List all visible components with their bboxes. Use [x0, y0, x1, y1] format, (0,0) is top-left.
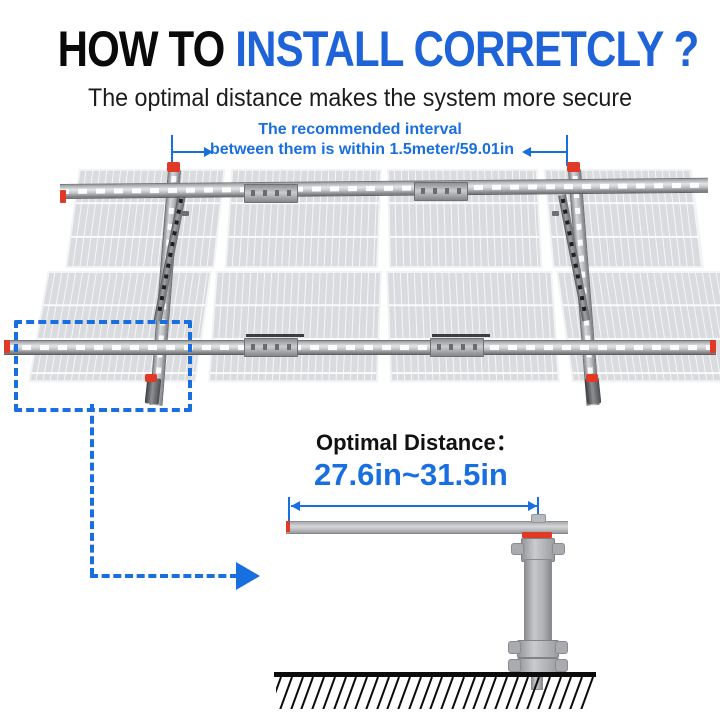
detail-clamp-bolt — [511, 543, 524, 555]
detail-bracket-bolt — [555, 659, 568, 672]
detail-bracket-bolt — [508, 659, 521, 672]
detail-rail-cap-red — [286, 521, 290, 532]
detail-lower-bracket — [517, 640, 559, 658]
arrow-left-icon — [291, 501, 300, 511]
detail-rail-bolt — [531, 514, 546, 523]
detail-bracket-bolt — [508, 641, 521, 654]
detail-side-view — [0, 0, 720, 720]
detail-clamp-bolt — [552, 543, 565, 555]
arrow-right-icon — [528, 501, 537, 511]
detail-dimension-line — [291, 505, 537, 507]
ground-hatching — [276, 677, 596, 709]
detail-bracket-bolt — [555, 641, 568, 654]
infographic-canvas: HOW TO INSTALL CORRETCLY ? The optimal d… — [0, 0, 720, 720]
detail-tick-left — [288, 497, 290, 521]
